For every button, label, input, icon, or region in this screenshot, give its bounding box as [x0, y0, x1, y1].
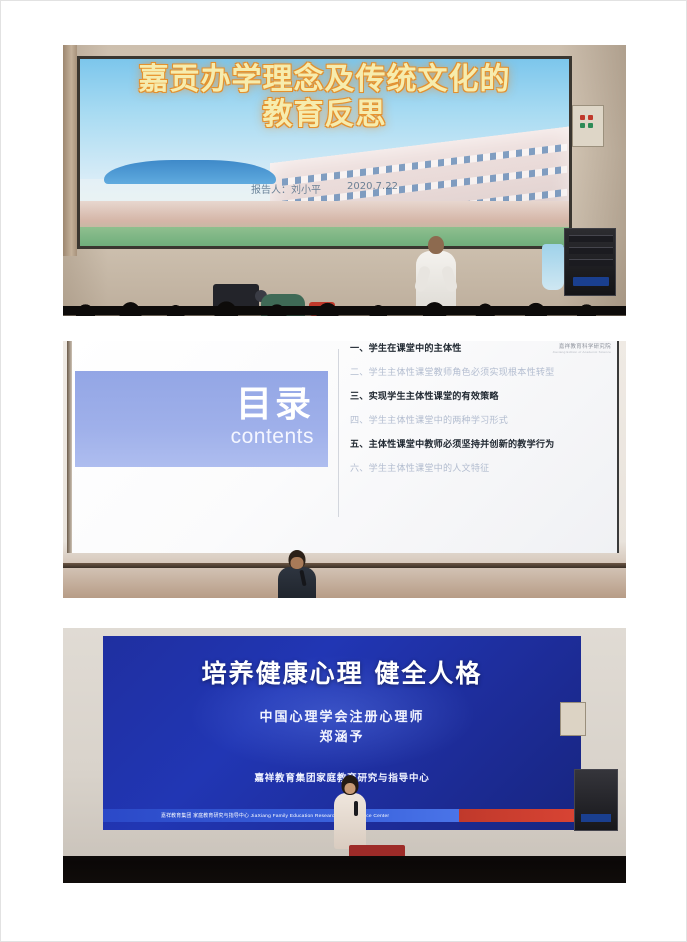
- list-item-number: 二、: [350, 368, 369, 378]
- rack-strip: [569, 247, 613, 254]
- list-item-number: 四、: [350, 416, 369, 426]
- list-item-text: 学生主体性课堂教师角色必须实现根本性转型: [369, 368, 555, 378]
- audience-silhouettes: [63, 831, 626, 883]
- list-item-text: 学生在课堂中的主体性: [369, 344, 462, 354]
- screen-left-edge: [67, 341, 72, 553]
- panel-led: [588, 115, 593, 120]
- photo-lecture-opening: 嘉贡办学理念及传统文化的 教育反思 报告人：刘小平 2020.7.22: [63, 45, 626, 316]
- slide-1-meta: 报告人：刘小平 2020.7.22: [251, 181, 398, 196]
- speaker-person-2: [277, 550, 317, 598]
- list-item: 一、学生在课堂中的主体性: [350, 345, 612, 354]
- contents-heading-cn: 目录: [236, 387, 314, 423]
- rack-strip: [569, 259, 613, 266]
- document-page: 嘉贡办学理念及传统文化的 教育反思 报告人：刘小平 2020.7.22: [0, 0, 687, 942]
- projection-screen-2: 目录 contents 嘉祥教育科学研究院 Jiaxiang Edition o…: [67, 341, 619, 553]
- list-item: 三、实现学生主体性课堂的有效策略: [350, 393, 612, 402]
- list-item: 四、学生主体性课堂中的两种学习形式: [350, 417, 612, 426]
- wall-control-panel: [560, 702, 586, 736]
- contents-divider: [338, 349, 339, 517]
- list-item: 二、学生主体性课堂教师角色必须实现根本性转型: [350, 369, 612, 378]
- slide-1-date: 2020.7.22: [347, 181, 398, 196]
- contents-heading-en: contents: [231, 423, 314, 450]
- speaker-face: [345, 783, 356, 794]
- projection-screen-1: 嘉贡办学理念及传统文化的 教育反思 报告人：刘小平 2020.7.22: [77, 56, 572, 249]
- slide-sports-field: [80, 227, 569, 246]
- slide-1-presenter: 报告人：刘小平: [251, 181, 321, 196]
- rack-display: [573, 277, 609, 286]
- slide-3-subtitle-line2: 郑涵予: [103, 728, 581, 748]
- speaker-head: [428, 236, 444, 254]
- panel-led: [580, 115, 585, 120]
- list-item: 五、主体性课堂中教师必须坚持并创新的教学行为: [350, 441, 612, 450]
- photo-psychology-lecture: 培养健康心理 健全人格 中国心理学会注册心理师 郑涵予 嘉祥教育集团家庭教育研究…: [63, 628, 626, 883]
- panel-led: [588, 123, 593, 128]
- list-item-text: 学生主体性课堂中的两种学习形式: [369, 416, 508, 426]
- list-item: 六、学生主体性课堂中的人文特征: [350, 465, 612, 474]
- microphone: [354, 801, 358, 816]
- list-item-number: 五、: [350, 440, 369, 450]
- list-item-text: 学生主体性课堂中的人文特征: [369, 464, 490, 474]
- list-item-number: 三、: [350, 392, 369, 402]
- slide-3-subtitle: 中国心理学会注册心理师 郑涵予: [103, 708, 581, 748]
- slide-3-subtitle-line1: 中国心理学会注册心理师: [103, 708, 581, 728]
- av-equipment-rack: [564, 228, 616, 296]
- speaker-face: [291, 557, 304, 569]
- list-item-text: 实现学生主体性课堂的有效策略: [369, 392, 499, 402]
- panel-led: [580, 123, 585, 128]
- list-item-text: 主体性课堂中教师必须坚持并创新的教学行为: [369, 440, 555, 450]
- stage-edge-bar: [63, 563, 626, 568]
- contents-heading-block: 目录 contents: [75, 371, 328, 467]
- audience-silhouettes: [63, 288, 626, 316]
- speaker-body: [278, 567, 316, 598]
- rack-display: [581, 814, 611, 822]
- contents-list: 一、学生在课堂中的主体性 二、学生主体性课堂教师角色必须实现根本性转型 三、实现…: [350, 345, 612, 490]
- av-equipment-rack: [574, 769, 618, 831]
- water-dispenser: [542, 244, 564, 290]
- slide-1-title: 嘉贡办学理念及传统文化的 教育反思: [80, 63, 569, 133]
- list-item-number: 一、: [350, 344, 369, 354]
- slide-stadium-canopy: [104, 160, 275, 184]
- banner-accent: [459, 809, 581, 822]
- rack-strip: [569, 235, 613, 242]
- slide-3-title: 培养健康心理 健全人格: [103, 654, 581, 690]
- list-item-number: 六、: [350, 464, 369, 474]
- banner-band: 嘉祥教育集团 家庭教育研究与指导中心 JiaXiang Family Educa…: [103, 809, 459, 822]
- wall-pillar: [63, 45, 77, 256]
- wall-control-panel: [572, 105, 604, 147]
- photo-contents-slide: 目录 contents 嘉祥教育科学研究院 Jiaxiang Edition o…: [63, 341, 626, 598]
